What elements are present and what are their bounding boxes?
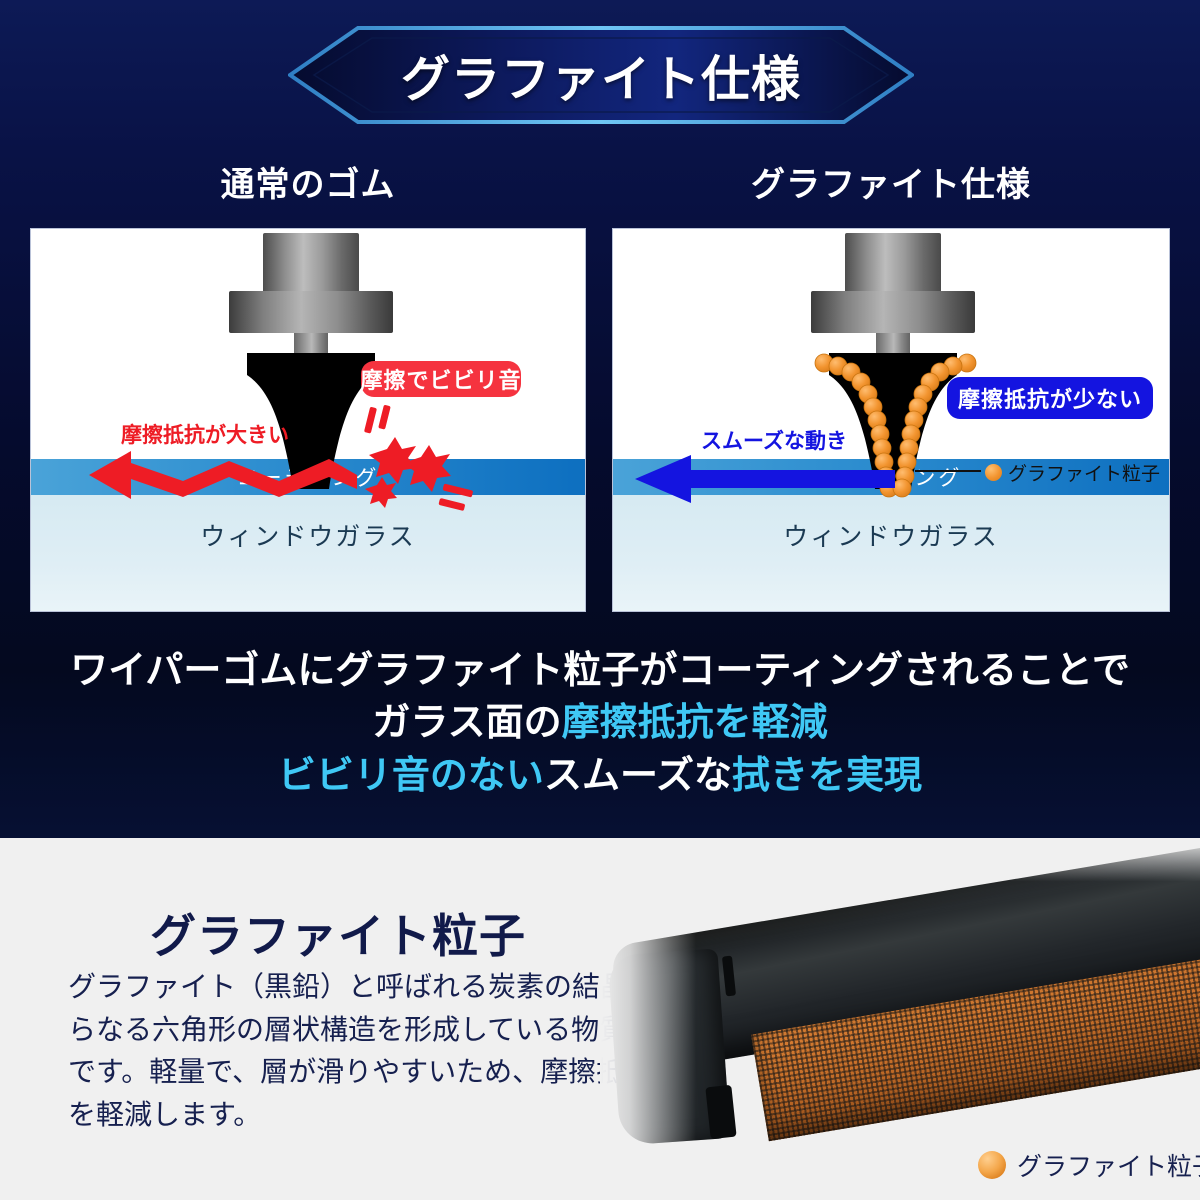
legend-graphite-particle: グラファイト粒子: [978, 1147, 1200, 1183]
graphite-particle-dot-icon: [985, 464, 1002, 481]
blade-holder-neck: [294, 333, 328, 355]
particle-callout: グラファイト粒子: [985, 459, 1160, 486]
glass-layer-label-left: ウィンドウガラス: [31, 517, 585, 553]
headline-line-2: ガラス面の摩擦抵抗を軽減: [0, 697, 1200, 749]
headline-line-3-highlight-a: ビビリ音のない: [278, 755, 544, 797]
body-line-1: グラファイト（黒鉛）と呼ばれる炭素の結晶か: [68, 966, 628, 1009]
glass-layer-right: ウィンドウガラス: [613, 495, 1169, 611]
panel-heading-graphite: グラファイト仕様: [612, 157, 1170, 206]
diagram-graphite: ウィンドウガラス コーティング: [612, 228, 1170, 612]
headline-line-2-highlight: 摩擦抵抗を軽減: [562, 702, 828, 744]
particle-callout-leader-line: [915, 470, 981, 472]
arrow-label-high-friction: 摩擦抵抗が大きい: [121, 419, 289, 449]
hero-section: グラファイト仕様 通常のゴム グラファイト仕様 ウィンドウガラス コーティング …: [0, 0, 1200, 838]
body-line-3: です。軽量で、層が滑りやすいため、摩擦抵抗: [68, 1051, 628, 1094]
blade-holder-flange: [811, 291, 975, 333]
headline-line-1: ワイパーゴムにグラファイト粒子がコーティングされることで: [0, 645, 1200, 697]
product-photo-wiper-blade: [600, 838, 1200, 1200]
arrow-label-smooth-move: スムーズな動き: [701, 425, 847, 455]
vibration-spark-icon: [347, 405, 477, 515]
graphite-particle-legend-dot-icon: [978, 1151, 1006, 1179]
headline-line-2-plain: ガラス面の: [372, 702, 561, 744]
legend-graphite-particle-label: グラファイト粒子: [1017, 1147, 1200, 1183]
headline-line-1-text: ワイパーゴムにグラファイト粒子がコーティングされることで: [70, 650, 1130, 692]
diagram-normal-rubber: ウィンドウガラス コーティング 摩擦でビビリ音: [30, 228, 586, 612]
glass-layer-left: ウィンドウガラス: [31, 495, 585, 611]
panel-heading-normal-rubber: 通常のゴム: [30, 157, 586, 206]
body-line-2: らなる六角形の層状構造を形成している物質: [68, 1009, 628, 1052]
friction-zigzag-arrow-icon: [89, 449, 359, 505]
headline-block: ワイパーゴムにグラファイト粒子がコーティングされることで ガラス面の摩擦抵抗を軽…: [0, 645, 1200, 802]
badge-low-friction: 摩擦抵抗が少ない: [947, 377, 1153, 419]
smooth-move-arrow-icon: [635, 455, 897, 503]
title-banner: グラファイト仕様: [288, 26, 914, 124]
blade-holder-cylinder: [845, 233, 941, 293]
banner-title: グラファイト仕様: [288, 26, 914, 124]
glass-layer-label-right: ウィンドウガラス: [613, 517, 1169, 553]
headline-line-3-highlight-b: 拭きを実現: [732, 755, 922, 797]
bottom-section-body: グラファイト（黒鉛）と呼ばれる炭素の結晶か らなる六角形の層状構造を形成している…: [68, 966, 628, 1136]
wiper-blade-notch: [705, 1085, 736, 1139]
particle-callout-label: グラファイト粒子: [1008, 459, 1160, 486]
blade-holder-cylinder: [263, 233, 359, 293]
headline-line-3-plain: スムーズな: [544, 755, 732, 797]
graphite-info-section: グラファイト粒子 グラファイト（黒鉛）と呼ばれる炭素の結晶か らなる六角形の層状…: [0, 838, 1200, 1200]
bottom-section-title: グラファイト粒子: [150, 900, 526, 966]
headline-line-3: ビビリ音のないスムーズな拭きを実現: [0, 750, 1200, 802]
badge-friction-noise: 摩擦でビビリ音: [361, 361, 521, 397]
blade-holder-flange: [229, 291, 393, 333]
body-line-4: を軽減します。: [68, 1094, 628, 1137]
